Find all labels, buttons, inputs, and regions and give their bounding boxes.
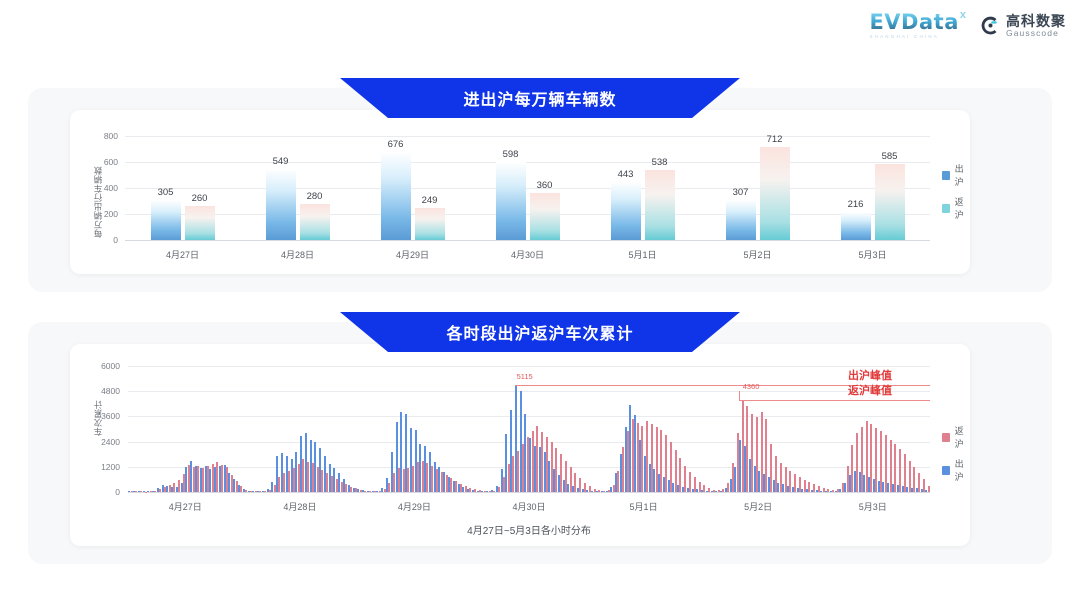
bar-返沪-4月30日 [530, 193, 560, 240]
bar-出沪-4月28日 [266, 169, 296, 240]
x-axis-tick-chart-one: 4月30日 [511, 248, 544, 261]
chart-card-one: 每万辆出行车辆数02004006008004月27日3052604月28日549… [70, 110, 970, 274]
bar-value-label: 260 [192, 193, 208, 204]
bar-出沪-4月27日 [151, 200, 181, 240]
legend-swatch-返沪 [942, 204, 950, 213]
bar-返沪-5月3日 [875, 164, 905, 240]
chart-panel-two: 车次累计0120024003600480060004月27日4月28日4月29日… [28, 322, 1052, 564]
x-axis-tick-chart-two: 5月3日 [859, 500, 887, 513]
x-axis-tick-chart-one: 5月2日 [743, 248, 771, 261]
grid-line-chart-one [125, 136, 930, 137]
bar-chart-hourly: 车次累计0120024003600480060004月27日4月28日4月29日… [70, 344, 970, 546]
ref-tick-ret-peak [739, 391, 740, 400]
legend-item-出沪[interactable]: 出沪 [942, 457, 970, 483]
x-axis-tick-chart-one: 5月3日 [858, 248, 886, 261]
grid-line-chart-one [125, 188, 930, 189]
legend-label-出沪: 出沪 [955, 457, 970, 483]
hourly-bar-ret [928, 486, 930, 492]
bar-chart-daily: 每万辆出行车辆数02004006008004月27日3052604月28日549… [70, 110, 970, 274]
x-axis-tick-chart-two: 5月2日 [744, 500, 772, 513]
bar-value-label: 549 [273, 156, 289, 167]
legend-swatch-返沪 [942, 433, 950, 442]
logo-group: EVData x SHANGHAI CHINA 高科数聚 Gausscode [869, 12, 1066, 40]
y-axis-tick-chart-one: 400 [84, 183, 118, 193]
x-axis-tick-chart-one: 5月1日 [628, 248, 656, 261]
y-axis-tick-chart-two: 3600 [86, 411, 120, 421]
chart-two-title-banner: 各时段出沪返沪车次累计 [340, 312, 740, 352]
y-axis-tick-chart-one: 600 [84, 157, 118, 167]
bar-出沪-4月30日 [496, 162, 526, 240]
evdata-logo: EVData x SHANGHAI CHINA [869, 12, 966, 40]
bar-返沪-4月29日 [415, 208, 445, 240]
legend-swatch-出沪 [942, 466, 950, 475]
x-axis-tick-chart-one: 4月29日 [396, 248, 429, 261]
y-axis-tick-chart-one: 800 [84, 131, 118, 141]
y-axis-tick-chart-one: 200 [84, 209, 118, 219]
x-axis-tick-chart-two: 4月30日 [512, 500, 545, 513]
x-axis-tick-chart-two: 4月29日 [398, 500, 431, 513]
bar-value-label: 280 [307, 191, 323, 202]
legend-label-出沪: 出沪 [955, 162, 970, 188]
legend-label-返沪: 返沪 [955, 195, 970, 221]
legend-label-返沪: 返沪 [955, 424, 970, 450]
bar-value-label: 360 [537, 180, 553, 191]
x-axis-line-chart-one [125, 240, 930, 241]
bar-value-label: 598 [503, 149, 519, 160]
gausscode-cn-name: 高科数聚 [1006, 14, 1066, 29]
bar-value-label: 249 [422, 195, 438, 206]
grid-line-chart-two [128, 416, 930, 417]
ref-line-ret-peak [739, 400, 930, 401]
y-axis-tick-chart-two: 4800 [86, 386, 120, 396]
bar-出沪-4月29日 [381, 152, 411, 240]
chart-one-title-banner: 进出沪每万辆车辆数 [340, 78, 740, 118]
page-header: EVData x SHANGHAI CHINA 高科数聚 Gausscode [0, 0, 1080, 62]
x-axis-line-chart-two [128, 492, 930, 493]
bar-返沪-4月27日 [185, 206, 215, 240]
x-axis-tick-chart-two: 4月27日 [169, 500, 202, 513]
evdata-x-icon: x [960, 10, 966, 21]
bar-value-label: 538 [652, 157, 668, 168]
y-axis-tick-chart-two: 1200 [86, 462, 120, 472]
bar-返沪-5月2日 [760, 147, 790, 240]
ref-label-out-peak: 出沪峰值 [848, 367, 892, 383]
bar-value-label: 443 [618, 169, 634, 180]
bar-value-label: 712 [767, 134, 783, 145]
bar-value-label: 307 [733, 187, 749, 198]
evdata-tagline: SHANGHAI CHINA [869, 35, 939, 40]
y-axis-tick-chart-two: 2400 [86, 437, 120, 447]
legend-item-出沪[interactable]: 出沪 [942, 162, 970, 188]
gausscode-mark-icon [980, 15, 1001, 36]
bar-出沪-5月3日 [841, 212, 871, 240]
chart-panel-one: 每万辆出行车辆数02004006008004月27日3052604月28日549… [28, 88, 1052, 292]
bar-value-label: 585 [882, 151, 898, 162]
bar-value-label: 305 [158, 187, 174, 198]
grid-line-chart-one [125, 162, 930, 163]
ref-label-ret-peak: 返沪峰值 [848, 382, 892, 398]
y-axis-tick-chart-one: 0 [84, 235, 118, 245]
x-axis-tick-chart-one: 4月28日 [281, 248, 314, 261]
bar-出沪-5月1日 [611, 182, 641, 240]
ref-value-out-peak: 5115 [517, 372, 533, 381]
y-axis-tick-chart-two: 0 [86, 487, 120, 497]
bar-返沪-4月28日 [300, 204, 330, 240]
legend-chart-one: 出沪返沪 [942, 162, 970, 228]
grid-line-chart-one [125, 214, 930, 215]
legend-swatch-出沪 [942, 171, 950, 180]
bar-value-label: 216 [848, 199, 864, 210]
x-axis-caption-chart-two: 4月27日~5月3日各小时分布 [467, 522, 591, 537]
legend-chart-two: 返沪出沪 [942, 424, 970, 490]
x-axis-tick-chart-one: 4月27日 [166, 248, 199, 261]
y-axis-tick-chart-two: 6000 [86, 361, 120, 371]
grid-line-chart-two [128, 391, 930, 392]
x-axis-tick-chart-two: 4月28日 [283, 500, 316, 513]
bar-出沪-5月2日 [726, 200, 756, 240]
grid-line-chart-two [128, 366, 930, 367]
legend-item-返沪[interactable]: 返沪 [942, 424, 970, 450]
chart-card-two: 车次累计0120024003600480060004月27日4月28日4月29日… [70, 344, 970, 546]
evdata-wordmark: EVData [869, 12, 958, 33]
legend-item-返沪[interactable]: 返沪 [942, 195, 970, 221]
bar-返沪-5月1日 [645, 170, 675, 240]
x-axis-tick-chart-two: 5月1日 [630, 500, 658, 513]
ref-value-ret-peak: 4360 [743, 382, 760, 391]
bar-value-label: 676 [388, 139, 404, 150]
gausscode-en-name: Gausscode [1006, 29, 1066, 38]
gausscode-logo: 高科数聚 Gausscode [980, 14, 1066, 38]
